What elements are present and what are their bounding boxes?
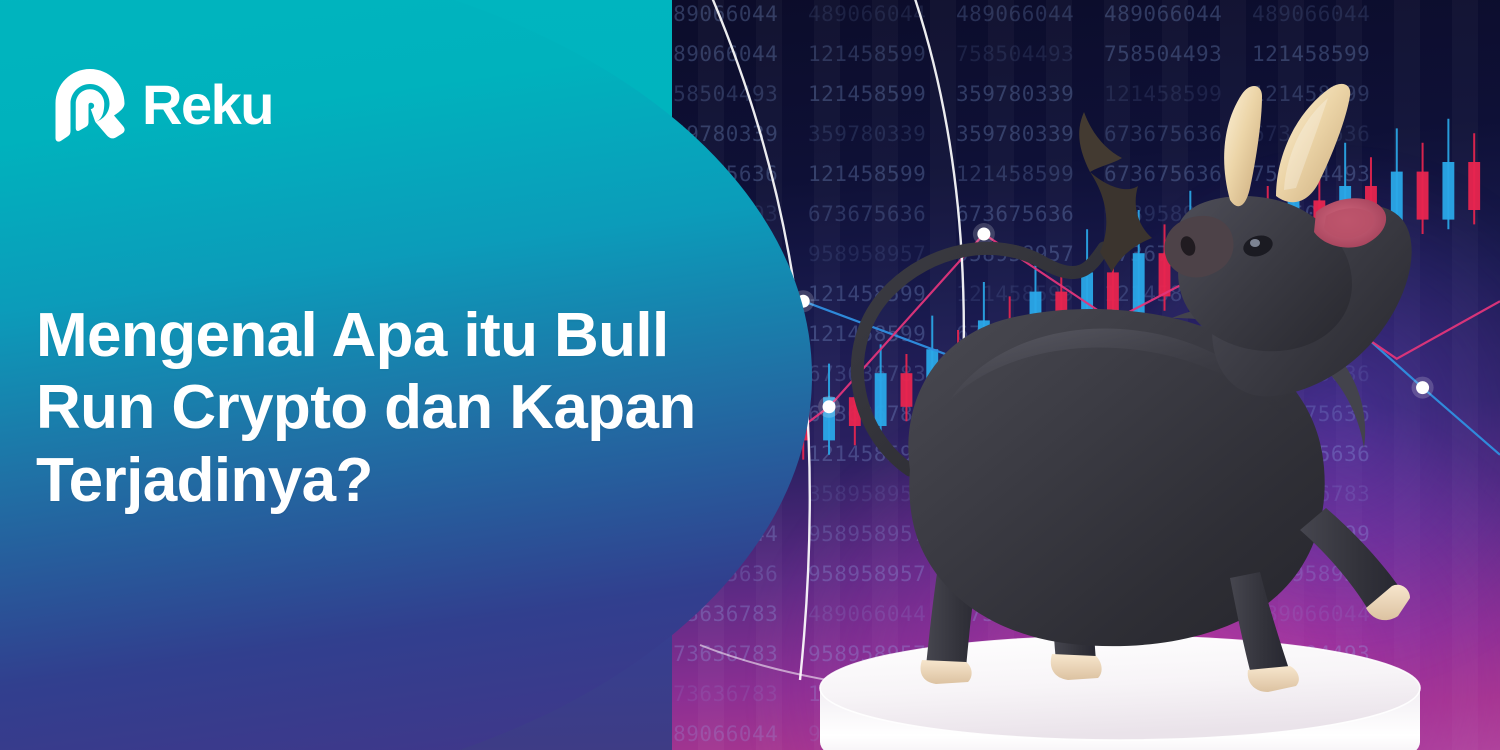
headline-line-1: Mengenal Apa itu Bull — [36, 301, 669, 370]
headline-line-3: Terjadinya? — [36, 446, 373, 515]
reku-wordmark: Reku — [142, 77, 273, 133]
page-title: Mengenal Apa itu Bull Run Crypto dan Kap… — [36, 300, 766, 518]
reku-arch-r-logo-icon — [52, 66, 128, 144]
reku-logo[interactable]: Reku — [52, 66, 273, 144]
headline-line-2: Run Crypto dan Kapan — [36, 373, 696, 442]
banner-root: 4890660444890660444890660444890660444890… — [0, 0, 1500, 750]
pedestal — [820, 636, 1420, 750]
bull-illustration — [760, 0, 1500, 750]
